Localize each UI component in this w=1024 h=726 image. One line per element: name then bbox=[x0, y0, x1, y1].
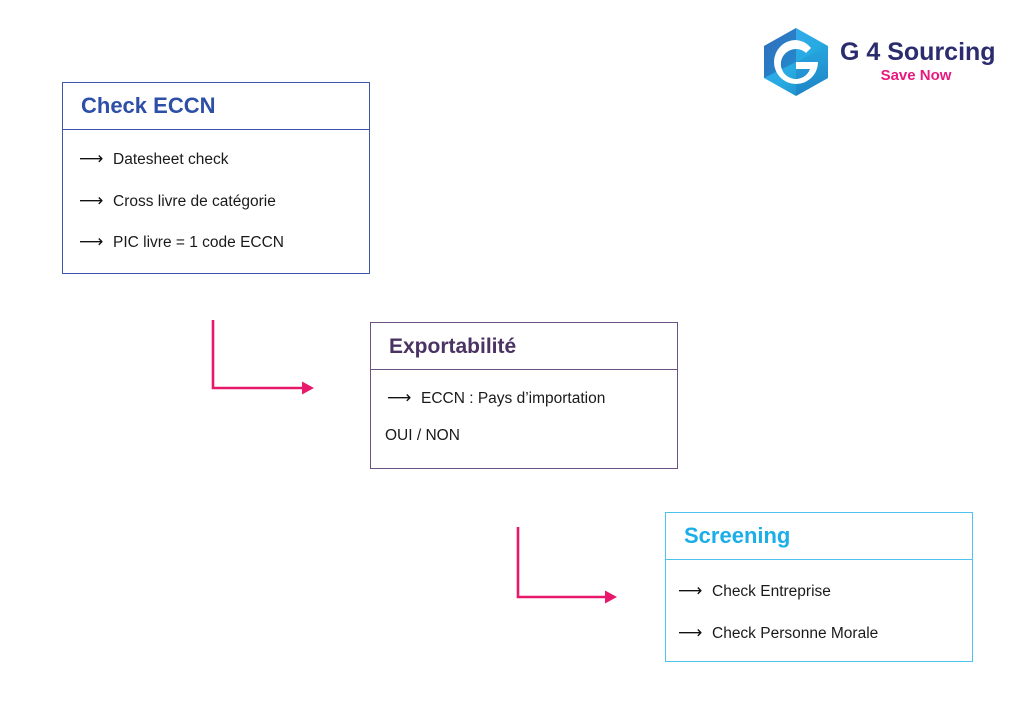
card-body-check-eccn: ⟶ Datesheet check ⟶ Cross livre de catég… bbox=[63, 130, 369, 251]
arrow-right-icon: ⟶ bbox=[678, 624, 712, 641]
card-header-exportabilite: Exportabilité bbox=[371, 323, 677, 370]
list-item: ⟶ Check Personne Morale bbox=[678, 624, 972, 642]
list-item-label: Cross livre de catégorie bbox=[113, 194, 276, 210]
arrow-right-icon: ⟶ bbox=[678, 582, 712, 599]
step-card-screening[interactable]: Screening ⟶ Check Entreprise ⟶ Check Per… bbox=[665, 512, 973, 662]
step-card-check-eccn[interactable]: Check ECCN ⟶ Datesheet check ⟶ Cross liv… bbox=[62, 82, 370, 274]
brand-wordmark: G 4 Sourcing Save Now bbox=[840, 38, 1000, 85]
list-item-label: ECCN : Pays d’importation bbox=[421, 391, 605, 407]
page-title-screening: Screening bbox=[666, 525, 790, 547]
page-title-check-eccn: Check ECCN bbox=[63, 95, 215, 117]
arrow-right-icon: ⟶ bbox=[387, 389, 421, 406]
list-item: ⟶ PIC livre = 1 code ECCN bbox=[71, 233, 369, 251]
list-item-label: Check Personne Morale bbox=[712, 626, 878, 642]
diagram-canvas: G 4 Sourcing Save Now Check ECCN ⟶ Dates… bbox=[0, 0, 1024, 726]
brand-tagline: Save Now bbox=[840, 66, 992, 85]
arrow-right-icon: ⟶ bbox=[19, 150, 113, 167]
arrow-right-icon: ⟶ bbox=[19, 192, 113, 209]
hexagon-g-logo-icon bbox=[760, 26, 832, 98]
list-item: ⟶ Check Entreprise bbox=[678, 582, 972, 600]
list-item: ⟶ ECCN : Pays d’importation bbox=[387, 389, 677, 407]
card-body-exportabilite: ⟶ ECCN : Pays d’importation OUI / NON bbox=[371, 370, 677, 443]
brand-title: G 4 Sourcing bbox=[840, 38, 1000, 66]
page-title-exportabilite: Exportabilité bbox=[371, 336, 516, 357]
list-item-label: Check Entreprise bbox=[712, 584, 831, 600]
card-body-screening: ⟶ Check Entreprise ⟶ Check Personne Mora… bbox=[666, 560, 972, 641]
card-header-check-eccn: Check ECCN bbox=[63, 83, 369, 130]
brand-logo: G 4 Sourcing Save Now bbox=[760, 24, 1000, 98]
decision-options: OUI / NON bbox=[385, 428, 677, 444]
connector-check-eccn-to-exportabilite bbox=[210, 318, 320, 398]
list-item-label: PIC livre = 1 code ECCN bbox=[113, 235, 284, 251]
list-item-label: Datesheet check bbox=[113, 152, 228, 168]
list-item: ⟶ Cross livre de catégorie bbox=[71, 192, 369, 210]
list-item: ⟶ Datesheet check bbox=[71, 150, 369, 168]
connector-exportabilite-to-screening bbox=[515, 525, 623, 607]
card-header-screening: Screening bbox=[666, 513, 972, 560]
arrow-right-icon: ⟶ bbox=[19, 233, 113, 250]
step-card-exportabilite[interactable]: Exportabilité ⟶ ECCN : Pays d’importatio… bbox=[370, 322, 678, 469]
